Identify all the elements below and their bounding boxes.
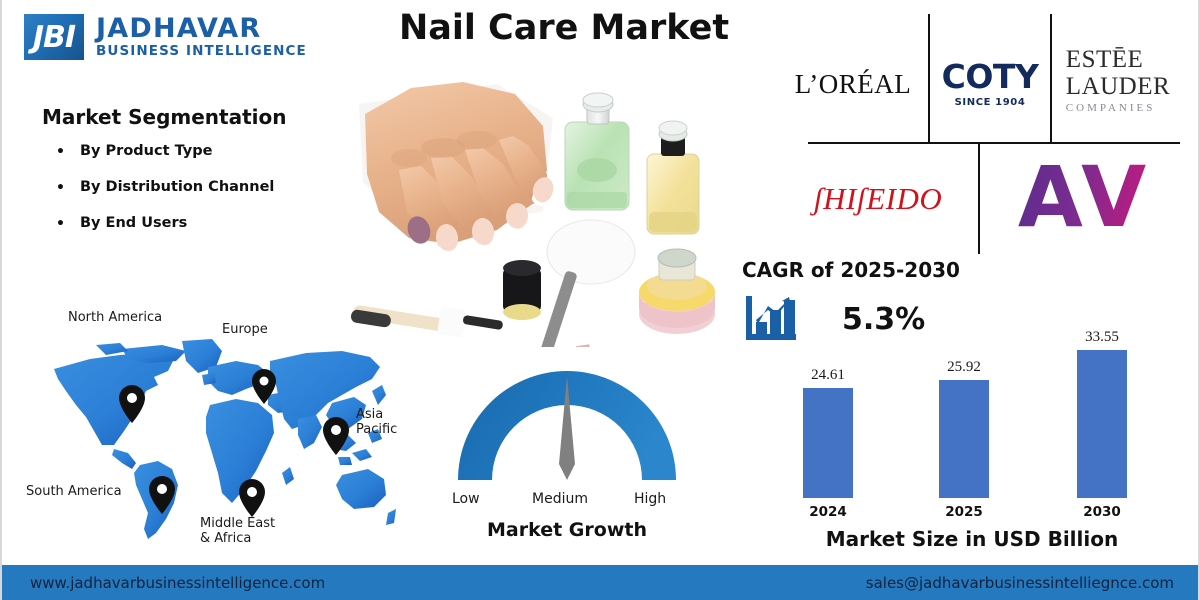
- growth-chart-icon: [742, 292, 800, 346]
- footer-email-link[interactable]: sales@jadhavarbusinessintelliegnce.com: [866, 574, 1174, 592]
- segmentation-list: • By Product Type • By Distribution Chan…: [42, 143, 342, 231]
- logo-coty: COTY SINCE 1904: [932, 32, 1048, 132]
- logo-estee-line2: LAUDER: [1066, 74, 1170, 99]
- logo-shiseido: ʃHIʃEIDO: [788, 154, 968, 244]
- map-region-label-north-america: North America: [68, 311, 162, 326]
- bar-group-2025: 25.92 2025: [934, 359, 994, 520]
- logo-mark-jbi: JBI: [24, 14, 84, 60]
- gauge-caption: Market Growth: [432, 519, 702, 541]
- logo-av: AV: [988, 146, 1180, 250]
- segmentation-item-label: By End Users: [80, 215, 187, 231]
- grid-divider-vertical: [1050, 14, 1052, 142]
- footer-website-link[interactable]: www.jadhavarbusinessintelligence.com: [30, 574, 325, 592]
- segmentation-item-label: By Distribution Channel: [80, 179, 274, 195]
- map-pin-icon: [252, 369, 276, 404]
- map-region-label-south-america: South America: [26, 485, 122, 500]
- logo-coty-wordmark: COTY: [942, 57, 1039, 96]
- market-size-bar-chart: 24.61 2024 25.92 2025 33.55 2030 Market …: [762, 345, 1182, 560]
- bullet-icon: •: [56, 144, 65, 160]
- bullet-icon: •: [56, 216, 65, 232]
- cagr-heading: CAGR of 2025-2030: [742, 258, 1042, 282]
- footer-bar: www.jadhavarbusinessintelligence.com sal…: [2, 565, 1200, 600]
- bar-category-label: 2024: [798, 504, 858, 520]
- bar-category-label: 2030: [1072, 504, 1132, 520]
- segmentation-item-label: By Product Type: [80, 143, 212, 159]
- bar-rect: [939, 380, 989, 498]
- company-name: JADHAVAR: [96, 15, 307, 42]
- key-players-logo-grid: L’ORÉAL COTY SINCE 1904 ESTĒE LAUDER COM…: [780, 14, 1180, 254]
- company-logo: JBI JADHAVAR BUSINESS INTELLIGENCE: [24, 14, 307, 60]
- gauge-icon: [442, 368, 692, 486]
- bar-category-label: 2025: [934, 504, 994, 520]
- manicure-illustration: [347, 62, 737, 347]
- map-region-label-asia-pacific: Asia Pacific: [356, 408, 408, 438]
- logo-loreal: L’ORÉAL: [780, 34, 926, 134]
- logo-estee-lauder: ESTĒE LAUDER COMPANIES: [1056, 24, 1180, 136]
- map-pin-icon: [323, 417, 349, 455]
- bar-group-2030: 33.55 2030: [1072, 329, 1132, 520]
- bullet-icon: •: [56, 180, 65, 196]
- gauge-tick-low: Low: [452, 491, 480, 507]
- gauge-tick-medium: Medium: [532, 491, 588, 507]
- grid-divider-horizontal: [808, 142, 1180, 144]
- map-pin-icon: [149, 476, 175, 514]
- logo-coty-since: SINCE 1904: [942, 97, 1039, 108]
- map-pin-icon: [239, 479, 265, 517]
- bar-value-label: 33.55: [1072, 329, 1132, 346]
- chart-plot-area: 24.61 2024 25.92 2025 33.55 2030: [762, 345, 1182, 505]
- list-item: • By Product Type: [42, 143, 342, 159]
- logo-wordmark: JADHAVAR BUSINESS INTELLIGENCE: [96, 15, 307, 59]
- list-item: • By Distribution Channel: [42, 179, 342, 195]
- market-growth-gauge: Low Medium High Market Growth: [432, 368, 702, 543]
- map-pins-layer: [36, 333, 396, 543]
- grid-divider-vertical: [978, 144, 980, 254]
- gauge-scale: Low Medium High: [452, 491, 682, 513]
- logo-estee-line1: ESTĒE: [1066, 47, 1170, 72]
- map-region-label-middle-east-africa: Middle East & Africa: [200, 517, 275, 547]
- infographic-canvas: JBI JADHAVAR BUSINESS INTELLIGENCE Nail …: [0, 0, 1200, 600]
- market-segmentation-section: Market Segmentation • By Product Type • …: [42, 105, 342, 251]
- map-region-label-europe: Europe: [222, 323, 268, 338]
- bar-rect: [1077, 350, 1127, 498]
- segmentation-heading: Market Segmentation: [42, 105, 342, 129]
- cagr-section: CAGR of 2025-2030 5.3%: [742, 258, 1042, 346]
- gauge-tick-high: High: [634, 491, 666, 507]
- cagr-value: 5.3%: [842, 302, 925, 337]
- page-title: Nail Care Market: [394, 8, 734, 48]
- list-item: • By End Users: [42, 215, 342, 231]
- grid-divider-vertical: [928, 14, 930, 142]
- bar-value-label: 25.92: [934, 359, 994, 376]
- bar-group-2024: 24.61 2024: [798, 367, 858, 520]
- bar-rect: [803, 388, 853, 498]
- nail-care-product-photo: [347, 62, 737, 347]
- map-pin-icon: [119, 385, 145, 423]
- company-tagline: BUSINESS INTELLIGENCE: [96, 45, 307, 59]
- bar-value-label: 24.61: [798, 367, 858, 384]
- chart-title: Market Size in USD Billion: [762, 527, 1182, 551]
- logo-estee-line3: COMPANIES: [1066, 103, 1170, 114]
